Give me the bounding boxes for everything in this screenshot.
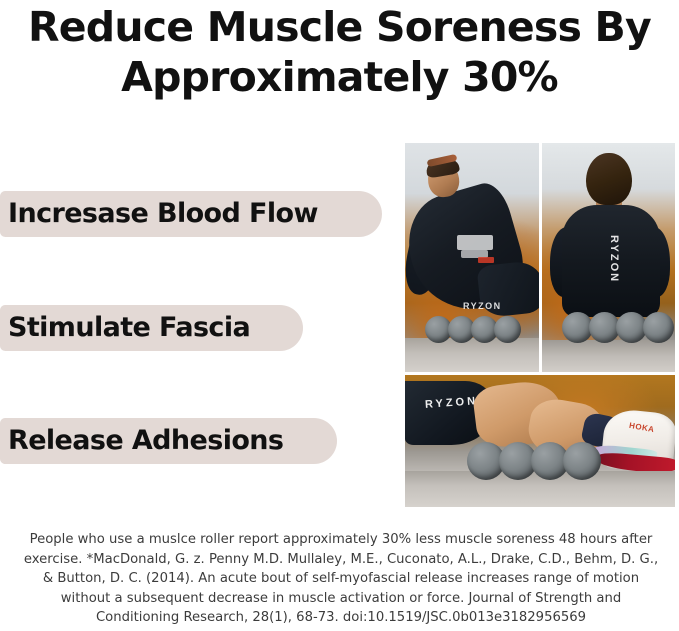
benefit-pill-adhesions: Release Adhesions	[0, 418, 337, 464]
photo-legs-on-roller-with-shoe: RYZON HOKA Close-up of legs rolling a ca…	[405, 375, 675, 507]
photo-detail-jersey-logo-accent	[478, 257, 494, 263]
photo-collage: RYZON Male athlete in dark cycling kit r…	[405, 143, 675, 507]
roller-ball	[643, 312, 674, 343]
roller-ball	[563, 442, 601, 480]
benefit-label: Stimulate Fascia	[8, 313, 250, 343]
benefit-pill-blood-flow: Incresase Blood Flow	[0, 191, 382, 237]
roller-ball	[494, 316, 521, 343]
photo-back-view-on-roller: RYZON Rear view of athlete in black RYZO…	[542, 143, 675, 372]
photo-detail-jersey-logo	[457, 235, 493, 250]
benefit-label: Incresase Blood Flow	[8, 199, 318, 229]
page-title-line-2: Approximately 30%	[0, 52, 679, 102]
photo-brand-text: RYZON	[463, 301, 502, 311]
photo-athlete-reclining-on-roller: RYZON Male athlete in dark cycling kit r…	[405, 143, 539, 372]
photo-detail-ground	[542, 340, 675, 372]
muscle-roller-icon	[467, 441, 597, 481]
photo-detail-ground	[405, 338, 539, 372]
photo-brand-text: RYZON	[608, 235, 619, 283]
benefit-label: Release Adhesions	[8, 426, 283, 456]
footnote-citation: People who use a muslce roller report ap…	[18, 530, 664, 628]
page-title: Reduce Muscle Soreness By Approximately …	[0, 2, 679, 102]
collage-top-row: RYZON Male athlete in dark cycling kit r…	[405, 143, 675, 372]
photo-detail-head	[586, 153, 632, 205]
muscle-roller-icon	[562, 311, 670, 343]
muscle-roller-icon	[425, 315, 517, 343]
benefit-pill-fascia: Stimulate Fascia	[0, 305, 303, 351]
page-title-line-1: Reduce Muscle Soreness By	[0, 2, 679, 52]
